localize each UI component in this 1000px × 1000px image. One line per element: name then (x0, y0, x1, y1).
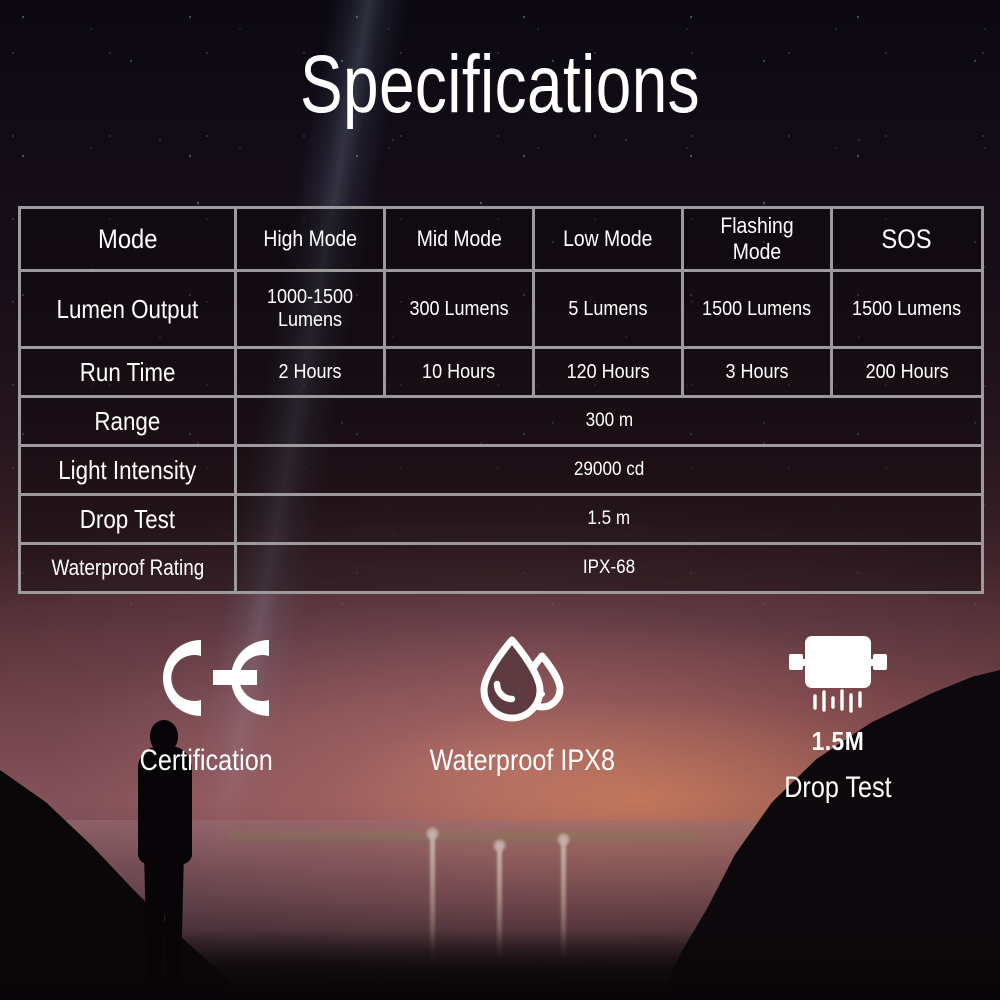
row-label-waterproof-rating: Waterproof Rating (20, 544, 236, 593)
feature-drop-test: 1.5M Drop Test (680, 626, 996, 805)
drop-test-icon (783, 626, 893, 730)
table-row-drop-test: Drop Test 1.5 m (20, 495, 983, 544)
table-row-range: Range 300 m (20, 397, 983, 446)
feature-badges: Certification Waterproof IPX8 (0, 626, 1000, 805)
cell-lumen-mid: 300 Lumens (385, 271, 534, 348)
row-label-lumen-output: Lumen Output (20, 271, 236, 348)
specifications-table-wrapper: Mode High Mode Mid Mode Low Mode Flashin… (18, 206, 981, 594)
cell-runtime-sos: 200 Hours (832, 348, 983, 397)
water-drops-icon (474, 626, 570, 730)
ce-mark-icon (143, 626, 269, 730)
table-row-lumen-output: Lumen Output 1000-1500 Lumens 300 Lumens… (20, 271, 983, 348)
cell-runtime-flashing: 3 Hours (683, 348, 832, 397)
table-row-run-time: Run Time 2 Hours 10 Hours 120 Hours 3 Ho… (20, 348, 983, 397)
cell-lumen-sos: 1500 Lumens (832, 271, 983, 348)
row-label-drop-test: Drop Test (20, 495, 236, 544)
feature-label-waterproof: Waterproof IPX8 (429, 744, 614, 778)
page-title: Specifications (110, 42, 890, 128)
specifications-table: Mode High Mode Mid Mode Low Mode Flashin… (18, 206, 984, 594)
feature-waterproof: Waterproof IPX8 (364, 626, 680, 805)
row-label-range: Range (20, 397, 236, 446)
drop-test-distance-badge: 1.5M (812, 726, 865, 757)
header-cell-mid-mode: Mid Mode (385, 208, 534, 271)
feature-certification: Certification (48, 626, 364, 805)
cell-runtime-mid: 10 Hours (385, 348, 534, 397)
cell-lumen-flashing: 1500 Lumens (683, 271, 832, 348)
cell-drop-test-value: 1.5 m (236, 495, 983, 544)
row-label-run-time: Run Time (20, 348, 236, 397)
cell-light-intensity-value: 29000 cd (236, 446, 983, 495)
feature-label-drop-test: Drop Test (784, 771, 891, 805)
header-cell-flashing-mode: Flashing Mode (683, 208, 832, 271)
feature-label-certification: Certification (139, 744, 272, 778)
header-cell-low-mode: Low Mode (534, 208, 683, 271)
header-cell-high-mode: High Mode (236, 208, 385, 271)
table-row-waterproof-rating: Waterproof Rating IPX-68 (20, 544, 983, 593)
cell-lumen-high: 1000-1500 Lumens (236, 271, 385, 348)
cell-lumen-low: 5 Lumens (534, 271, 683, 348)
table-header-row: Mode High Mode Mid Mode Low Mode Flashin… (20, 208, 983, 271)
specifications-infographic: Specifications Mode High Mode Mid Mode L… (0, 0, 1000, 1000)
cell-range-value: 300 m (236, 397, 983, 446)
cell-runtime-high: 2 Hours (236, 348, 385, 397)
row-label-light-intensity: Light Intensity (20, 446, 236, 495)
cell-waterproof-rating-value: IPX-68 (236, 544, 983, 593)
header-cell-sos: SOS (832, 208, 983, 271)
shoreline-grass (230, 832, 700, 845)
header-cell-mode: Mode (20, 208, 236, 271)
cell-runtime-low: 120 Hours (534, 348, 683, 397)
person-legs (144, 852, 184, 984)
table-row-light-intensity: Light Intensity 29000 cd (20, 446, 983, 495)
